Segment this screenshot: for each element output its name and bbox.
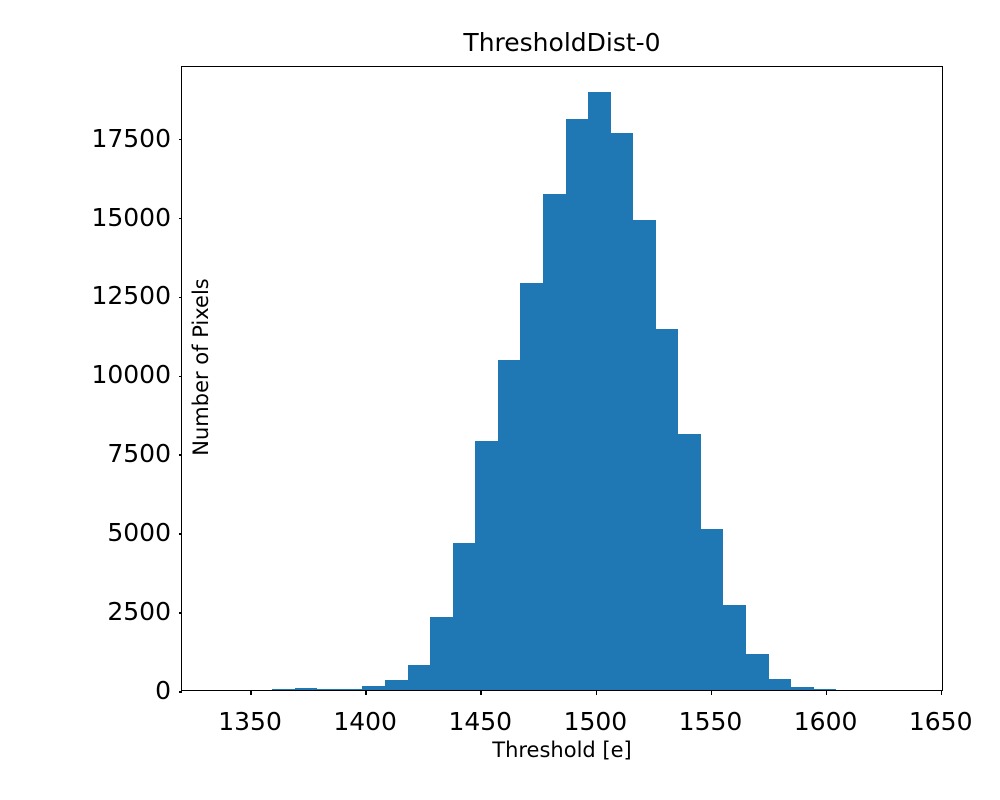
histogram-bar bbox=[543, 194, 566, 690]
histogram-bar bbox=[791, 687, 814, 690]
y-axis-tick bbox=[179, 218, 182, 220]
x-axis-tick bbox=[250, 690, 252, 695]
y-axis-tick-label: 5000 bbox=[107, 520, 171, 545]
y-axis-tick bbox=[179, 297, 182, 299]
x-axis-tick-label: 1400 bbox=[333, 708, 397, 735]
x-axis-tick bbox=[711, 690, 713, 695]
histogram-bar bbox=[453, 543, 476, 690]
y-axis-tick-label: 2500 bbox=[107, 599, 171, 624]
histogram-bar bbox=[566, 119, 589, 690]
histogram-bar bbox=[475, 441, 498, 690]
chart-title: ThresholdDist-0 bbox=[181, 28, 943, 58]
x-axis-tick-label: 1450 bbox=[448, 708, 512, 735]
histogram-bar bbox=[701, 529, 724, 690]
histogram-bar bbox=[746, 654, 769, 690]
x-axis-tick-label: 1350 bbox=[218, 708, 282, 735]
x-axis-tick-label: 1500 bbox=[564, 708, 628, 735]
histogram-bar bbox=[408, 665, 431, 690]
histogram-bar bbox=[769, 679, 792, 690]
x-axis-tick bbox=[941, 690, 943, 695]
x-axis-tick-label: 1650 bbox=[909, 708, 973, 735]
y-axis-tick-label: 17500 bbox=[91, 126, 171, 151]
y-axis-tick bbox=[179, 454, 182, 456]
y-axis-tick bbox=[179, 376, 182, 378]
x-axis-tick bbox=[596, 690, 598, 695]
x-axis-tick bbox=[480, 690, 482, 695]
histogram-bar bbox=[723, 605, 746, 690]
histogram-bar bbox=[385, 680, 408, 690]
y-axis-tick-label: 15000 bbox=[91, 205, 171, 230]
x-axis-label: Threshold [e] bbox=[181, 738, 943, 762]
histogram-bar bbox=[317, 689, 340, 690]
histogram-bar bbox=[295, 688, 318, 690]
histogram-bar bbox=[520, 283, 543, 690]
histogram-bar bbox=[430, 617, 453, 690]
y-axis-tick bbox=[179, 533, 182, 535]
y-axis-tick bbox=[179, 691, 182, 693]
histogram-bar bbox=[678, 434, 701, 690]
histogram-bar bbox=[498, 360, 521, 690]
x-axis-tick-label: 1600 bbox=[794, 708, 858, 735]
y-axis-tick bbox=[179, 612, 182, 614]
y-axis-tick-label: 10000 bbox=[91, 362, 171, 387]
y-axis-tick bbox=[179, 139, 182, 141]
histogram-bar bbox=[611, 133, 634, 690]
y-axis-tick-label: 7500 bbox=[107, 441, 171, 466]
x-axis-tick-label: 1550 bbox=[679, 708, 743, 735]
histogram-bar bbox=[633, 220, 656, 690]
plot-area: Number of Pixels bbox=[181, 66, 943, 691]
histogram-bar bbox=[272, 689, 295, 690]
histogram-bar bbox=[656, 329, 679, 690]
y-axis-tick-label: 0 bbox=[155, 678, 171, 703]
histogram-bars bbox=[182, 67, 942, 690]
figure-canvas: ThresholdDist-0 Number of Pixels 0250050… bbox=[0, 0, 1000, 800]
histogram-bar bbox=[588, 92, 611, 690]
x-axis-tick bbox=[365, 690, 367, 695]
y-axis-tick-label: 12500 bbox=[91, 283, 171, 308]
histogram-bar bbox=[340, 689, 363, 690]
y-axis-label: Number of Pixels bbox=[189, 207, 213, 527]
x-axis-tick bbox=[826, 690, 828, 695]
